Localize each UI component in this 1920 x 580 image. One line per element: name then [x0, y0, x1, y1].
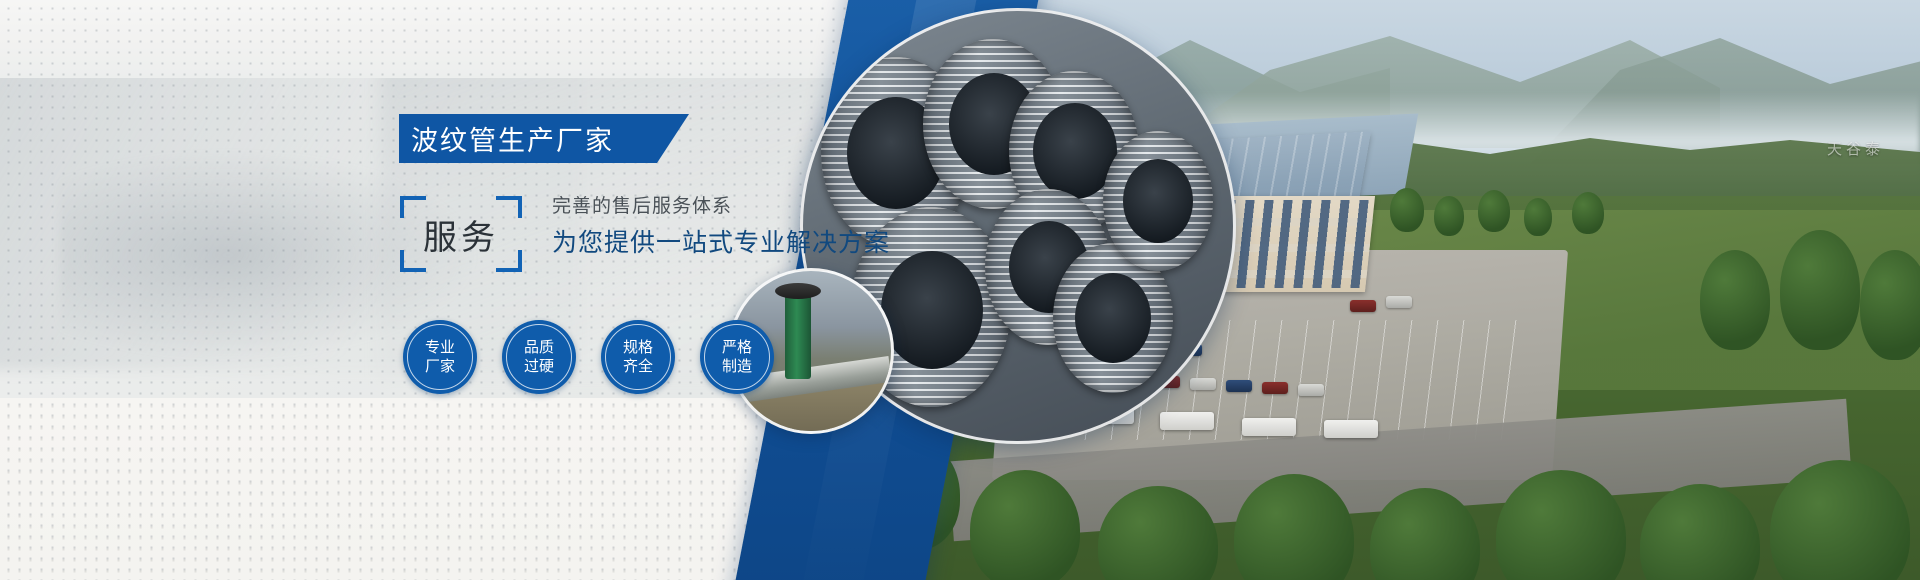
badge-line-1: 严格 — [722, 338, 752, 357]
badge-line-2: 齐全 — [623, 357, 653, 376]
hero-banner: 天谷泰 波纹管生产厂家 — [0, 0, 1920, 580]
badge-line-2: 厂家 — [425, 357, 455, 376]
tree — [1390, 188, 1424, 232]
feature-badge-group: 专业 厂家 品质 过硬 规格 齐全 严格 制造 — [403, 320, 774, 394]
valve-handwheel — [775, 283, 821, 299]
banner-title: 波纹管生产厂家 — [399, 119, 614, 158]
badge-line-1: 专业 — [425, 338, 455, 357]
banner-title-bar: 波纹管生产厂家 — [399, 114, 689, 163]
photo-watermark: 天谷泰 — [1827, 138, 1884, 159]
parked-car — [1190, 378, 1216, 390]
tree — [970, 470, 1080, 580]
slogan-primary: 为您提供一站式专业解决方案 — [552, 225, 972, 261]
parked-car — [1226, 380, 1252, 392]
truck — [1160, 412, 1214, 430]
tree — [1478, 190, 1510, 232]
pipe-opening — [881, 251, 983, 369]
pipe-opening — [1123, 159, 1193, 243]
tree — [1700, 250, 1770, 350]
parked-car — [1262, 382, 1288, 394]
parked-car — [1298, 384, 1324, 396]
feature-badge[interactable]: 专业 厂家 — [403, 320, 477, 394]
badge-line-2: 制造 — [722, 357, 752, 376]
feature-badge[interactable]: 严格 制造 — [700, 320, 774, 394]
tree — [1572, 192, 1604, 234]
truck — [1242, 418, 1296, 436]
parked-car — [1350, 300, 1376, 312]
valve-body — [785, 293, 811, 379]
tree — [1434, 196, 1464, 236]
badge-line-1: 品质 — [524, 338, 554, 357]
feature-badge[interactable]: 规格 齐全 — [601, 320, 675, 394]
tree — [1780, 230, 1860, 350]
slogan-secondary: 完善的售后服务体系 — [552, 192, 972, 221]
feature-badge[interactable]: 品质 过硬 — [502, 320, 576, 394]
truck — [1324, 420, 1378, 438]
pipe-opening — [1075, 273, 1151, 363]
badge-line-2: 过硬 — [524, 357, 554, 376]
parked-car — [1386, 296, 1412, 308]
badge-line-1: 规格 — [623, 338, 653, 357]
slogan-group: 完善的售后服务体系 为您提供一站式专业解决方案 — [552, 192, 972, 261]
tree — [1524, 198, 1552, 236]
service-word: 服务 — [400, 196, 522, 272]
tree — [1860, 250, 1920, 360]
